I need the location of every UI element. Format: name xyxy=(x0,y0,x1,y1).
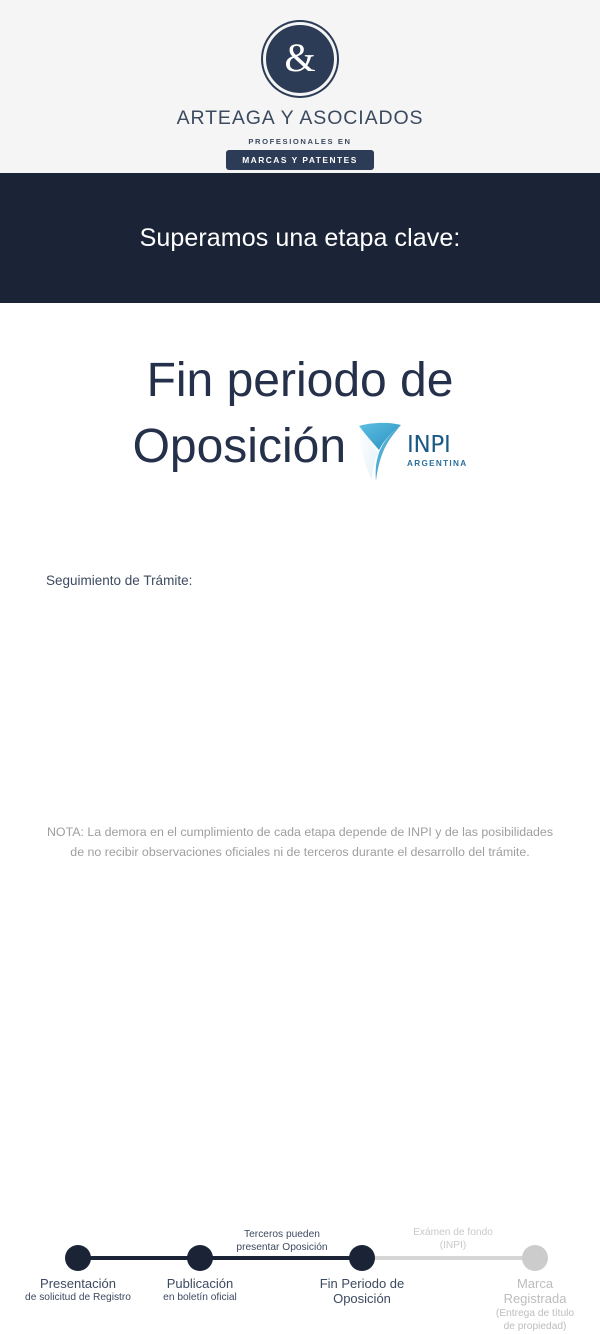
brand-name: ARTEAGA Y ASOCIADOS xyxy=(177,107,424,130)
footer-note-line-1: NOTA: La demora en el cumplimiento de ca… xyxy=(14,822,586,842)
node-subtitle: en boletín oficial xyxy=(130,1292,270,1305)
segment-label-line-1: Exámen de fondo xyxy=(383,1226,523,1239)
tracking-heading: Seguimiento de Trámite: xyxy=(46,573,192,588)
node-title: Publicación xyxy=(130,1276,270,1291)
ampersand-glyph: & xyxy=(284,38,315,78)
node-title: Marca xyxy=(465,1276,600,1291)
banner-text: Superamos una etapa clave: xyxy=(140,224,461,253)
node-subtitle-line-2: de propiedad) xyxy=(465,1321,600,1334)
node-subtitle-line-1: (Entrega de título xyxy=(465,1308,600,1321)
inpi-logo: INPI ARGENTINA xyxy=(356,420,467,482)
timeline-segment-label-opposition: Terceros pueden presentar Oposición xyxy=(212,1228,352,1255)
inpi-flag-icon xyxy=(356,420,404,482)
inpi-wordmark: INPI ARGENTINA xyxy=(407,434,467,468)
inpi-country: ARGENTINA xyxy=(407,460,467,468)
brand-emblem-icon: & xyxy=(266,25,334,93)
main-title-block: Fin periodo de Oposición xyxy=(0,303,600,482)
timeline-node-marca-registrada: Marca Registrada (Entrega de título de p… xyxy=(465,1276,600,1334)
timeline-segment-label-examination: Exámen de fondo (INPI) xyxy=(383,1226,523,1253)
page-header: & ARTEAGA Y ASOCIADOS PROFESIONALES EN M… xyxy=(0,0,600,173)
node-subtitle: de solicitud de Registro xyxy=(8,1292,148,1305)
progress-timeline: Terceros pueden presentar Oposición Exám… xyxy=(0,600,600,760)
timeline-node-publicacion: Publicación en boletín oficial xyxy=(130,1276,270,1305)
node-title: Presentación xyxy=(8,1276,148,1291)
footer-note: NOTA: La demora en el cumplimiento de ca… xyxy=(0,822,600,863)
headline-banner: Superamos una etapa clave: xyxy=(0,173,600,303)
segment-label-line-2: (INPI) xyxy=(383,1239,523,1252)
page-title-line-1: Fin periodo de xyxy=(147,349,454,414)
timeline-segment-done xyxy=(78,1256,362,1260)
page-title-line-2-row: Oposición xyxy=(133,414,468,482)
node-title: Fin Periodo de xyxy=(292,1276,432,1291)
timeline-dot-fin-oposicion[interactable] xyxy=(349,1245,375,1271)
timeline-dot-marca-registrada[interactable] xyxy=(522,1245,548,1271)
timeline-segment-pending xyxy=(362,1256,535,1260)
brand-tagline: PROFESIONALES EN xyxy=(248,137,351,146)
segment-label-line-2: presentar Oposición xyxy=(212,1241,352,1254)
footer-note-line-2: de no recibir observaciones oficiales ni… xyxy=(14,842,586,862)
timeline-node-presentacion: Presentación de solicitud de Registro xyxy=(8,1276,148,1305)
timeline-node-fin-oposicion: Fin Periodo de Oposición xyxy=(292,1276,432,1307)
page-title-line-2: Oposición xyxy=(133,415,346,480)
segment-label-line-1: Terceros pueden xyxy=(212,1228,352,1241)
node-title-2: Registrada xyxy=(465,1291,600,1306)
timeline-dot-publicacion[interactable] xyxy=(187,1245,213,1271)
node-title-2: Oposición xyxy=(292,1291,432,1306)
brand-badge: MARCAS Y PATENTES xyxy=(226,150,374,170)
inpi-title: INPI xyxy=(407,434,450,457)
timeline-dot-presentacion[interactable] xyxy=(65,1245,91,1271)
